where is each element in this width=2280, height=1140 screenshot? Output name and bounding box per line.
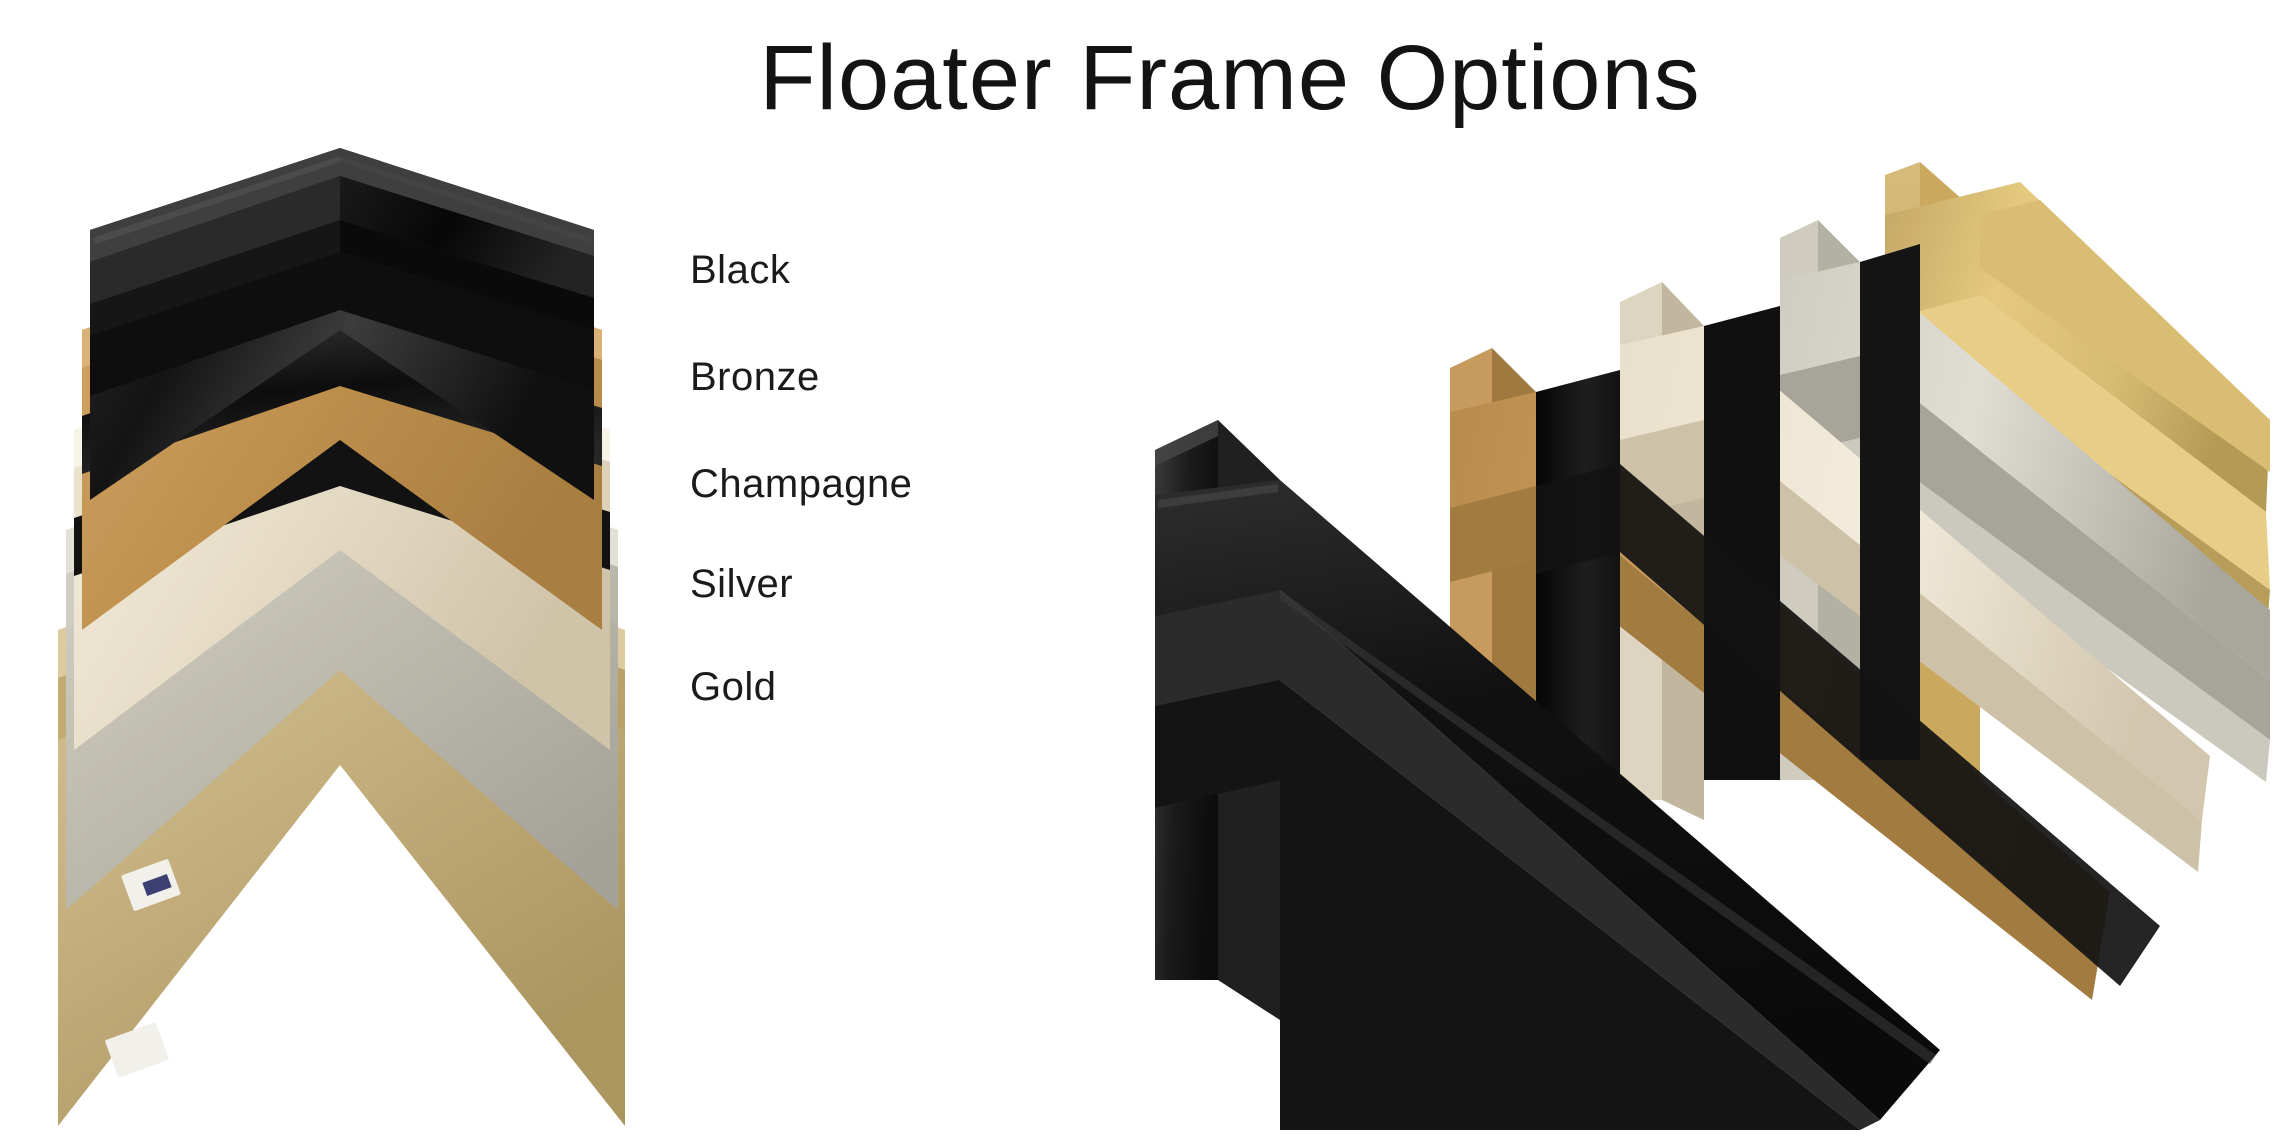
frame-stack-photo-right: [980, 120, 2270, 1130]
swatch-label-bronze: Bronze: [690, 355, 820, 400]
swatch-label-champagne: Champagne: [690, 462, 912, 507]
swatch-label-silver: Silver: [690, 562, 793, 607]
slide-canvas: Floater Frame Options: [0, 0, 2280, 1140]
swatch-label-gold: Gold: [690, 665, 777, 710]
swatch-label-black: Black: [690, 248, 790, 293]
frame-stack-photo-left: [40, 30, 720, 1140]
